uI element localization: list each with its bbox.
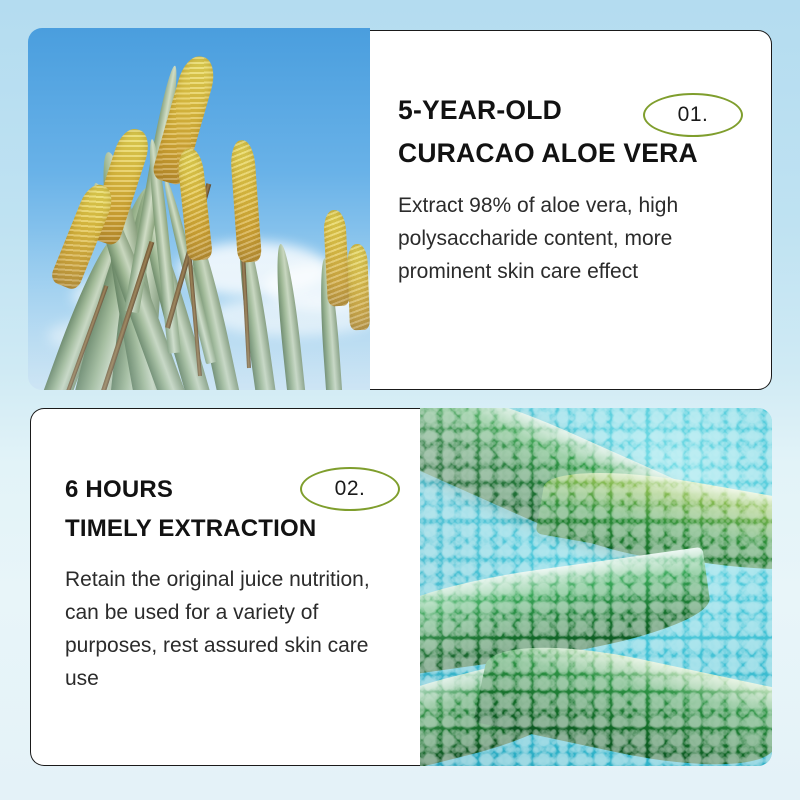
feature-card-one: 01. 5-YEAR-OLD CURACAO ALOE VERA Extract… — [370, 30, 772, 390]
aloe-flower-spike — [323, 210, 350, 307]
step-badge-02: 02. — [300, 467, 400, 511]
aloe-leaf-shape — [473, 628, 772, 766]
step-badge-01: 01. — [643, 93, 743, 137]
feature-section-one: 01. 5-YEAR-OLD CURACAO ALOE VERA Extract… — [28, 28, 772, 390]
aloe-plant-photo — [28, 28, 370, 390]
aloe-leaf-photo — [420, 408, 772, 766]
feature-card-two: 02. 6 HOURS TIMELY EXTRACTION Retain the… — [30, 408, 422, 766]
step-badge-label: 01. — [678, 103, 709, 127]
feature-section-two: 02. 6 HOURS TIMELY EXTRACTION Retain the… — [30, 408, 772, 766]
product-feature-page: 01. 5-YEAR-OLD CURACAO ALOE VERA Extract… — [0, 0, 800, 800]
step-badge-label: 02. — [335, 477, 366, 501]
card-two-headline-line2: TIMELY EXTRACTION — [65, 510, 400, 549]
card-one-body-text: Extract 98% of aloe vera, high polysacch… — [398, 189, 737, 289]
card-two-body-text: Retain the original juice nutrition, can… — [65, 563, 385, 696]
card-one-headline-line2: CURACAO ALOE VERA — [398, 132, 737, 175]
aloe-flower-spike — [347, 244, 370, 331]
